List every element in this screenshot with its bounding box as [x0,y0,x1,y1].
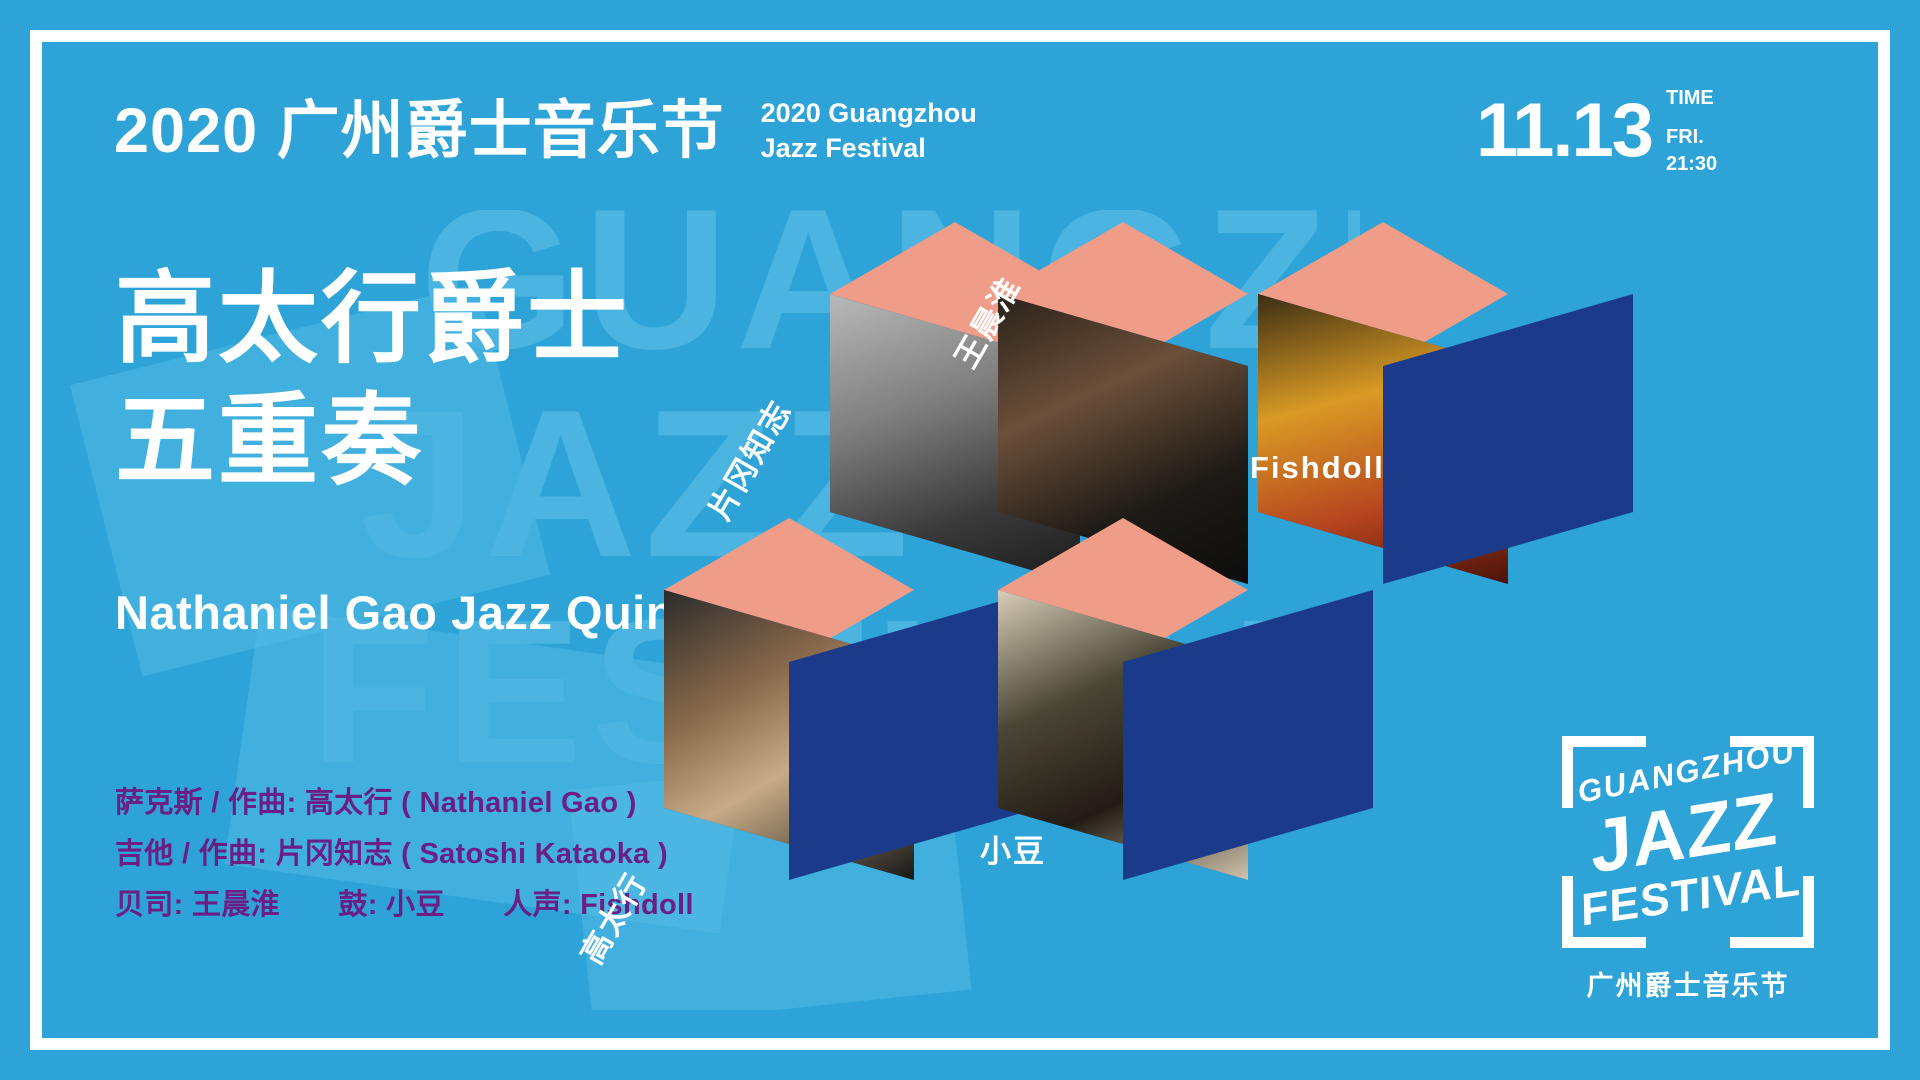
header-bar: 2020 广州爵士音乐节 2020 Guangzhou Jazz Festiva… [60,64,1426,198]
cube-label-xiaodou: 小豆 [980,826,1046,871]
festival-title-en-line2: Jazz Festival [761,131,977,166]
event-date: 11.13 [1476,93,1652,169]
credit-line-saxophone: 萨克斯 / 作曲: 高太行 ( Nathaniel Gao ) [115,778,694,829]
credit-line-guitar: 吉他 / 作曲: 片冈知志 ( Satoshi Kataoka ) [115,829,694,880]
cube-label-fishdoll: Fishdoll [1250,450,1385,486]
festival-logo: GUANGZHOU JAZZ FESTIVAL 广州爵士音乐节 [1516,702,1860,1018]
event-day: FRI. [1666,124,1717,151]
date-block: 11.13 TIME FRI. 21:30 [1450,64,1860,198]
event-time-meta: TIME FRI. 21:30 [1666,85,1717,178]
festival-title-cn: 2020 广州爵士音乐节 [114,100,725,163]
time-label: TIME [1666,85,1717,112]
logo-subtitle-cn: 广州爵士音乐节 [1516,964,1860,1003]
cube-label-kataoka: 片冈知志 [695,390,800,527]
festival-title-en-line1: 2020 Guangzhou [761,96,977,131]
festival-title-en: 2020 Guangzhou Jazz Festival [761,96,977,165]
event-time: 21:30 [1666,151,1717,178]
